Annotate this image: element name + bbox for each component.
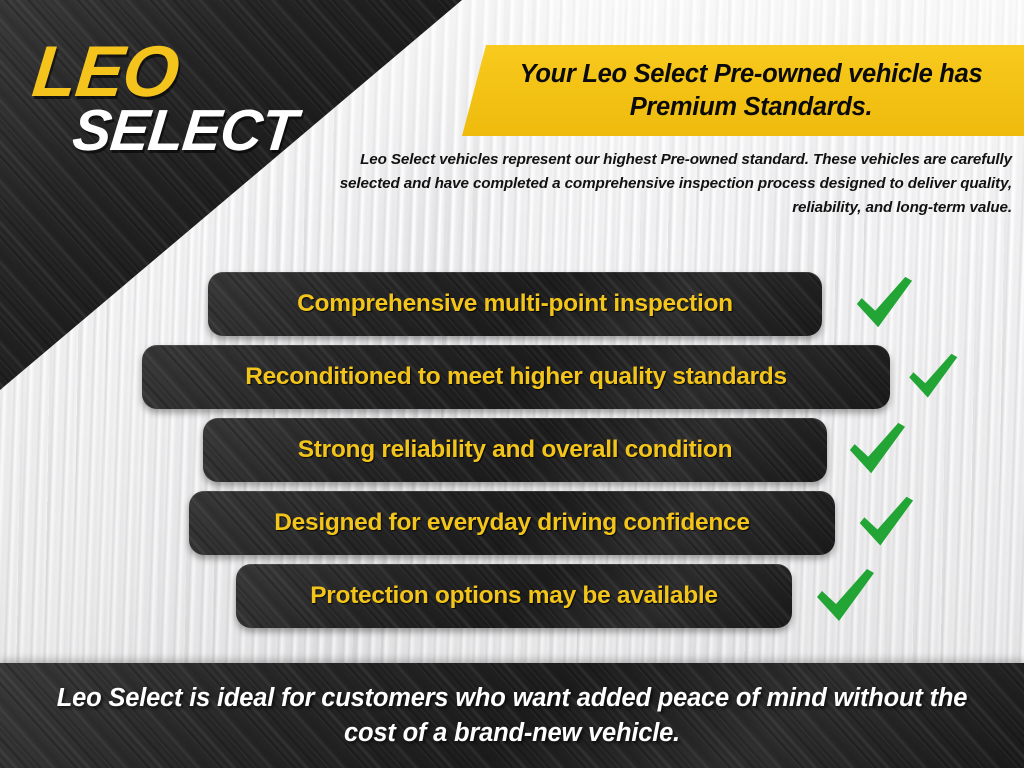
headline-banner: Your Leo Select Pre-owned vehicle has Pr…	[462, 45, 1024, 136]
feature-label: Strong reliability and overall condition	[298, 436, 733, 464]
footer-banner: Leo Select is ideal for customers who wa…	[0, 663, 1024, 768]
feature-pill: Protection options may be available	[236, 564, 792, 628]
feature-pill: Reconditioned to meet higher quality sta…	[142, 345, 890, 409]
intro-paragraph: Leo Select vehicles represent our highes…	[300, 148, 1012, 220]
feature-list: Comprehensive multi-point inspection Rec…	[0, 272, 1024, 637]
feature-row: Strong reliability and overall condition	[0, 418, 1024, 491]
feature-label: Designed for everyday driving confidence	[274, 509, 749, 537]
check-icon	[852, 274, 914, 332]
feature-row: Comprehensive multi-point inspection	[0, 272, 1024, 345]
feature-pill: Designed for everyday driving confidence	[189, 491, 835, 555]
feature-label: Protection options may be available	[310, 582, 717, 610]
promo-graphic: LEO SELECT Your Leo Select Pre-owned veh…	[0, 0, 1024, 768]
feature-pill: Comprehensive multi-point inspection	[208, 272, 822, 336]
check-icon	[855, 494, 915, 550]
feature-label: Reconditioned to meet higher quality sta…	[245, 363, 787, 391]
feature-row: Designed for everyday driving confidence	[0, 491, 1024, 564]
footer-tagline: Leo Select is ideal for customers who wa…	[0, 681, 1024, 750]
brand-logo: LEO SELECT	[33, 36, 293, 166]
feature-row: Protection options may be available	[0, 564, 1024, 637]
feature-label: Comprehensive multi-point inspection	[297, 290, 733, 318]
check-icon	[812, 566, 876, 626]
feature-row: Reconditioned to meet higher quality sta…	[0, 345, 1024, 418]
feature-pill: Strong reliability and overall condition	[203, 418, 827, 482]
check-icon	[845, 420, 907, 478]
check-icon	[905, 351, 959, 402]
logo-word-select: SELECT	[70, 102, 296, 160]
headline-text: Your Leo Select Pre-owned vehicle has Pr…	[462, 58, 1024, 123]
